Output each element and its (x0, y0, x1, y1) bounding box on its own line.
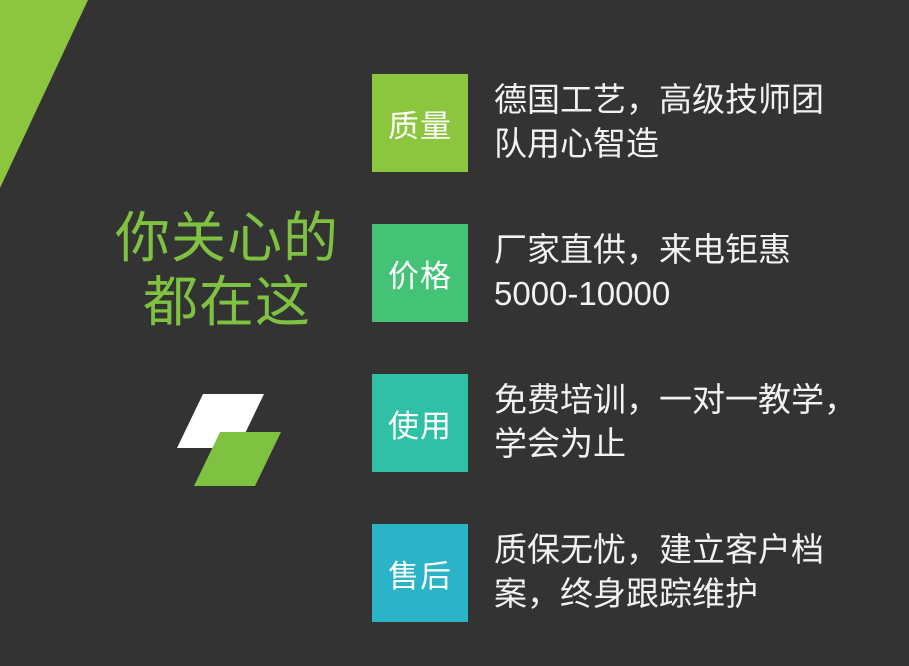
feature-description-line-1: 厂家直供，来电钜惠 (494, 228, 892, 272)
feature-description: 质保无忧，建立客户档 案，终身跟踪维护 (494, 524, 892, 615)
feature-badge-aftersales: 售后 (372, 524, 468, 622)
feature-description: 厂家直供，来电钜惠 5000-10000 (494, 224, 892, 315)
feature-row: 价格 厂家直供，来电钜惠 5000-10000 (372, 224, 892, 322)
feature-badge-label: 价格 (388, 251, 452, 296)
page-title-line-2: 都在这 (72, 270, 382, 334)
feature-badge-label: 质量 (388, 101, 452, 146)
brand-logo-icon (172, 382, 284, 494)
feature-description-line-1: 质保无忧，建立客户档 (494, 528, 892, 572)
green-corner-wedge-icon (0, 0, 90, 190)
feature-description: 免费培训，一对一教学， 学会为止 (494, 374, 892, 465)
slide-canvas: 你关心的 都在这 质量 德国工艺，高级技师团 队用心智造 价格 厂家直供，来电钜… (0, 0, 909, 666)
feature-description-line-2: 队用心智造 (494, 122, 892, 166)
feature-badge-usage: 使用 (372, 374, 468, 472)
feature-badge-quality: 质量 (372, 74, 468, 172)
feature-description-line-2: 案，终身跟踪维护 (494, 572, 892, 616)
feature-description-line-2: 学会为止 (494, 422, 892, 466)
page-title-line-1: 你关心的 (72, 206, 382, 270)
feature-description-line-2: 5000-10000 (494, 272, 892, 316)
feature-description-line-1: 免费培训，一对一教学， (494, 378, 892, 422)
feature-list: 质量 德国工艺，高级技师团 队用心智造 价格 厂家直供，来电钜惠 5000-10… (372, 74, 892, 622)
feature-row: 质量 德国工艺，高级技师团 队用心智造 (372, 74, 892, 172)
feature-description: 德国工艺，高级技师团 队用心智造 (494, 74, 892, 165)
feature-description-line-1: 德国工艺，高级技师团 (494, 78, 892, 122)
feature-row: 售后 质保无忧，建立客户档 案，终身跟踪维护 (372, 524, 892, 622)
feature-row: 使用 免费培训，一对一教学， 学会为止 (372, 374, 892, 472)
feature-badge-label: 售后 (388, 551, 452, 596)
feature-badge-price: 价格 (372, 224, 468, 322)
feature-badge-label: 使用 (388, 401, 452, 446)
page-title: 你关心的 都在这 (72, 206, 382, 335)
